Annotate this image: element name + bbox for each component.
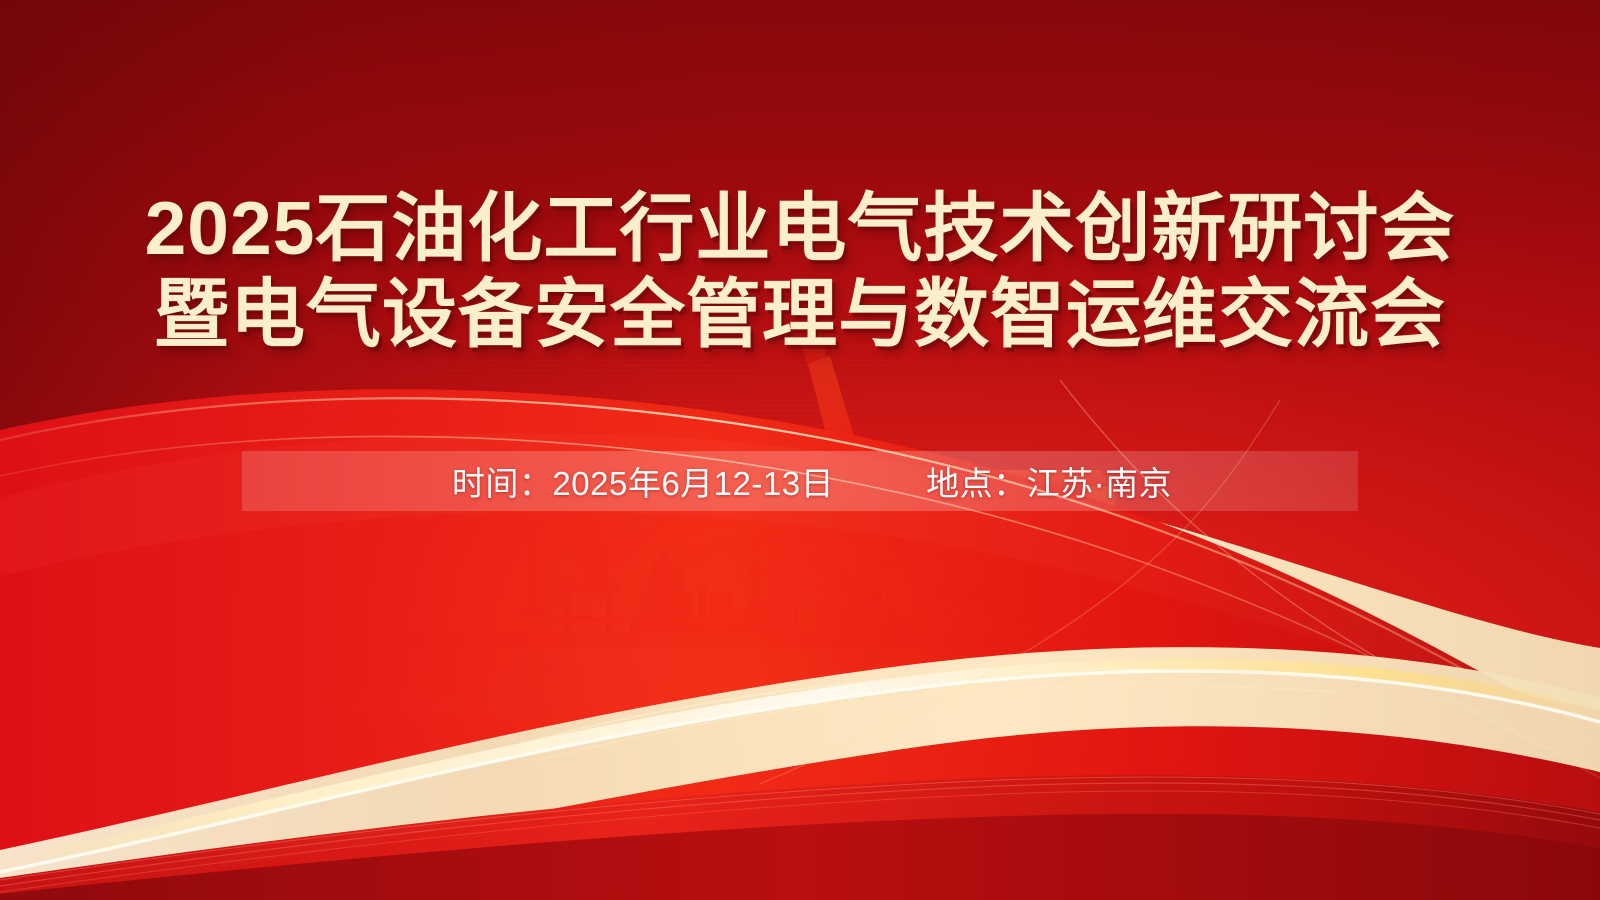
event-info-bar: 时间：2025年6月12-13日 地点：江苏·南京 — [242, 451, 1358, 511]
event-location-text: 地点：江苏·南京 — [926, 457, 1172, 505]
poster-canvas: 2025石油化工行业电气技术创新研讨会 暨电气设备安全管理与数智运维交流会 时间… — [0, 0, 1600, 900]
title-line-2: 暨电气设备安全管理与数智运维交流会 — [0, 272, 1600, 356]
poster-title: 2025石油化工行业电气技术创新研讨会 暨电气设备安全管理与数智运维交流会 — [0, 186, 1600, 356]
event-info-inner: 时间：2025年6月12-13日 地点：江苏·南京 — [254, 457, 1370, 505]
title-line-1: 2025石油化工行业电气技术创新研讨会 — [0, 186, 1600, 270]
event-date-text: 时间：2025年6月12-13日 — [452, 457, 834, 505]
